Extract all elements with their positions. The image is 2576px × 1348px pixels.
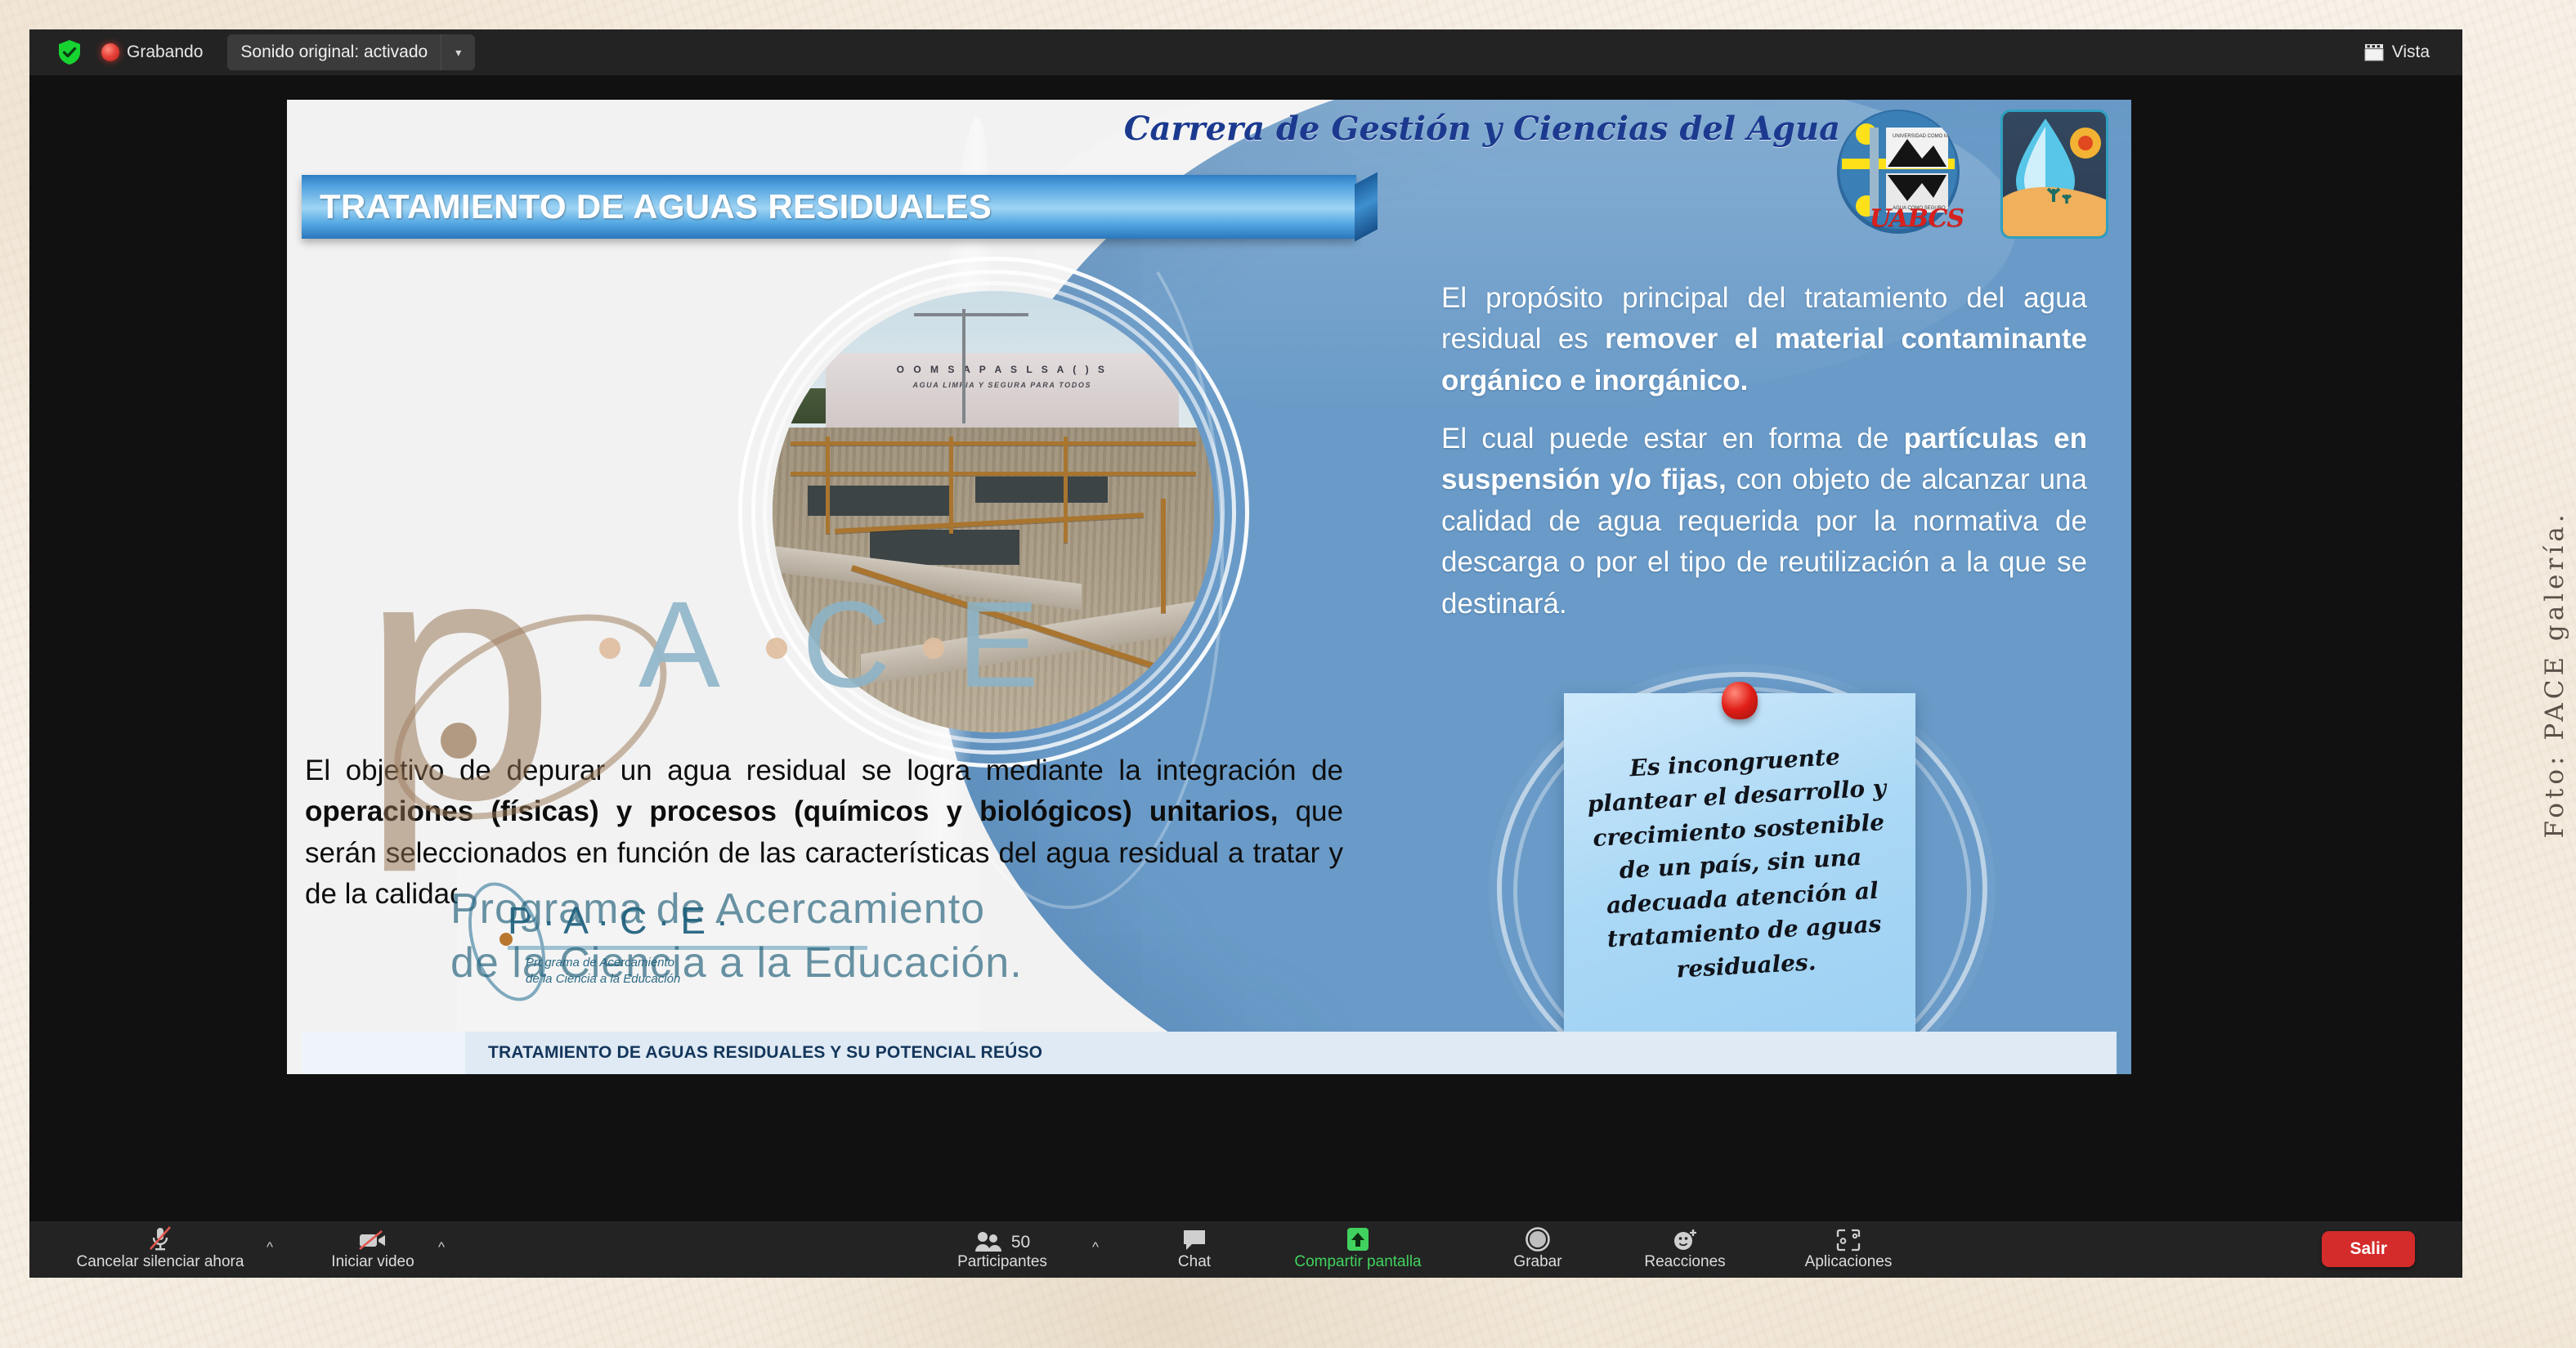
slide-header-script: Carrera de Gestión y Ciencias del Agua (1124, 110, 1840, 148)
pace-tagline-1: Programa de Acercamiento (526, 956, 674, 971)
shield-check-icon (57, 39, 82, 65)
lp-pre: El objetivo de depurar un agua residual … (305, 755, 1343, 786)
svg-text:UNIVERSIDAD COMO META: UNIVERSIDAD COMO META (1893, 134, 1957, 139)
powerpoint-slide: Carrera de Gestión y Ciencias del Agua U… (287, 100, 2131, 1074)
view-button[interactable]: Vista (2351, 36, 2443, 69)
apps-label: Aplicaciones (1805, 1254, 1893, 1270)
right-paragraph-1: El propósito principal del tratamiento d… (1441, 278, 2087, 401)
participants-chevron-icon[interactable]: ^ (1092, 1239, 1099, 1256)
recording-label: Grabando (127, 43, 203, 62)
photo-post-1 (826, 437, 830, 534)
photo-post-4 (1161, 499, 1166, 613)
participants-count-badge: 50 (1011, 1233, 1030, 1252)
slide-footer-spacer (302, 1032, 465, 1074)
slide-footer-text: TRATAMIENTO DE AGUAS RESIDUALES Y SU POT… (465, 1043, 1042, 1063)
zoom-meeting-window: Grabando Sonido original: activado ▾ Vis… (29, 29, 2462, 1278)
pace-logo: P · A · C · E · Programa de Acercamiento… (457, 864, 980, 1032)
photo-rail-1 (791, 441, 1197, 446)
apps-button[interactable]: Aplicaciones (1763, 1225, 1934, 1270)
slide-footer-band: TRATAMIENTO DE AGUAS RESIDUALES Y SU POT… (302, 1032, 2117, 1074)
sticky-note-text: Es incongruente plantear el desarrollo y… (1579, 737, 1902, 992)
chevron-down-icon[interactable]: ▾ (441, 34, 475, 70)
share-screen-up-arrow-icon (1346, 1225, 1370, 1252)
camera-off-icon (357, 1225, 388, 1252)
photo-rail-2 (791, 472, 1197, 476)
record-label: Grabar (1513, 1254, 1561, 1270)
microphone-muted-icon (146, 1225, 174, 1252)
photo-post-2 (949, 437, 953, 534)
pace-nucleus-icon (500, 933, 513, 946)
leave-meeting-button[interactable]: Salir (2322, 1231, 2415, 1267)
security-status-button[interactable] (47, 36, 92, 69)
original-sound-label: Sonido original: activado (227, 34, 441, 70)
rp2-pre: El cual puede estar en forma de (1441, 423, 1904, 455)
sticky-note-group: Es incongruente plantear el desarrollo y… (1497, 672, 2020, 1074)
record-button[interactable]: Grabar (1476, 1225, 1599, 1270)
right-paragraph-2: El cual puede estar en forma de partícul… (1441, 419, 2087, 625)
mute-button-label: Cancelar silenciar ahora (77, 1254, 244, 1270)
watermark-letter-a: A (638, 574, 720, 715)
page-title: TRATAMIENTO DE AGUAS RESIDUALES (320, 187, 992, 226)
apps-bracket-icon (1835, 1225, 1861, 1252)
zoom-bottom-toolbar: Cancelar silenciar ahora ^ Iniciar video… (29, 1221, 2462, 1278)
share-screen-button[interactable]: Compartir pantalla (1256, 1225, 1460, 1270)
reactions-label: Reacciones (1644, 1254, 1725, 1270)
photo-decorative-rings: O O M S A P A S L S A ( ) S AGUA LIMPIA … (738, 257, 1249, 768)
uabcs-wordmark: UABCS (1870, 204, 1964, 233)
participants-button[interactable]: 50 Participantes (921, 1225, 1084, 1270)
recording-dot-icon (101, 43, 119, 61)
mute-button[interactable]: Cancelar silenciar ahora (46, 1225, 275, 1270)
recording-status-indicator[interactable]: Grabando (92, 36, 213, 69)
sticky-note: Es incongruente plantear el desarrollo y… (1564, 693, 1915, 1074)
shared-screen-stage: Carrera de Gestión y Ciencias del Agua U… (29, 75, 2462, 1221)
record-circle-icon (1525, 1225, 1551, 1252)
photo-tank-c (870, 530, 1020, 565)
lp-bold: operaciones (físicas) y procesos (químic… (305, 795, 1278, 827)
share-screen-label: Compartir pantalla (1294, 1254, 1421, 1270)
photo-lamp-post (962, 309, 965, 423)
pace-tagline-2: de la Ciencia a la Educación (526, 972, 680, 987)
start-video-label: Iniciar video (331, 1254, 414, 1270)
participants-label: Participantes (957, 1254, 1047, 1270)
slide-title-banner: TRATAMIENTO DE AGUAS RESIDUALES (302, 175, 1356, 239)
photo-building-sign-2: AGUA LIMPIA Y SEGURA PARA TODOS (843, 381, 1161, 389)
chat-button[interactable]: Chat (1141, 1225, 1248, 1270)
view-label: Vista (2392, 43, 2430, 62)
watermark-dot-1 (599, 638, 620, 659)
chat-label: Chat (1178, 1254, 1211, 1270)
desktop-side-caption: Foto: PACE galería. (2540, 510, 2569, 838)
start-video-button[interactable]: Iniciar video (299, 1225, 446, 1270)
photo-building-sign-1: O O M S A P A S L S A ( ) S (843, 364, 1161, 375)
mute-options-chevron-icon[interactable]: ^ (267, 1239, 273, 1256)
reactions-button[interactable]: Reacciones (1607, 1225, 1763, 1270)
original-sound-dropdown[interactable]: Sonido original: activado ▾ (227, 34, 475, 70)
pace-logo-rule (508, 946, 867, 950)
photo-post-3 (1064, 437, 1068, 543)
photo-water-treatment-plant: O O M S A P A S L S A ( ) S AGUA LIMPIA … (773, 291, 1214, 732)
zoom-top-toolbar: Grabando Sonido original: activado ▾ Vis… (29, 29, 2462, 75)
photo-tank-b (975, 477, 1108, 503)
push-pin-icon (1722, 682, 1758, 719)
participants-icon: 50 (974, 1225, 1030, 1252)
photo-lamp-arm (914, 313, 1028, 316)
chat-bubble-icon (1181, 1225, 1207, 1252)
grid-view-icon (2364, 43, 2384, 61)
water-drop-desert-logo-icon (2000, 110, 2108, 239)
smiley-plus-icon (1672, 1225, 1698, 1252)
video-options-chevron-icon[interactable]: ^ (438, 1239, 445, 1256)
